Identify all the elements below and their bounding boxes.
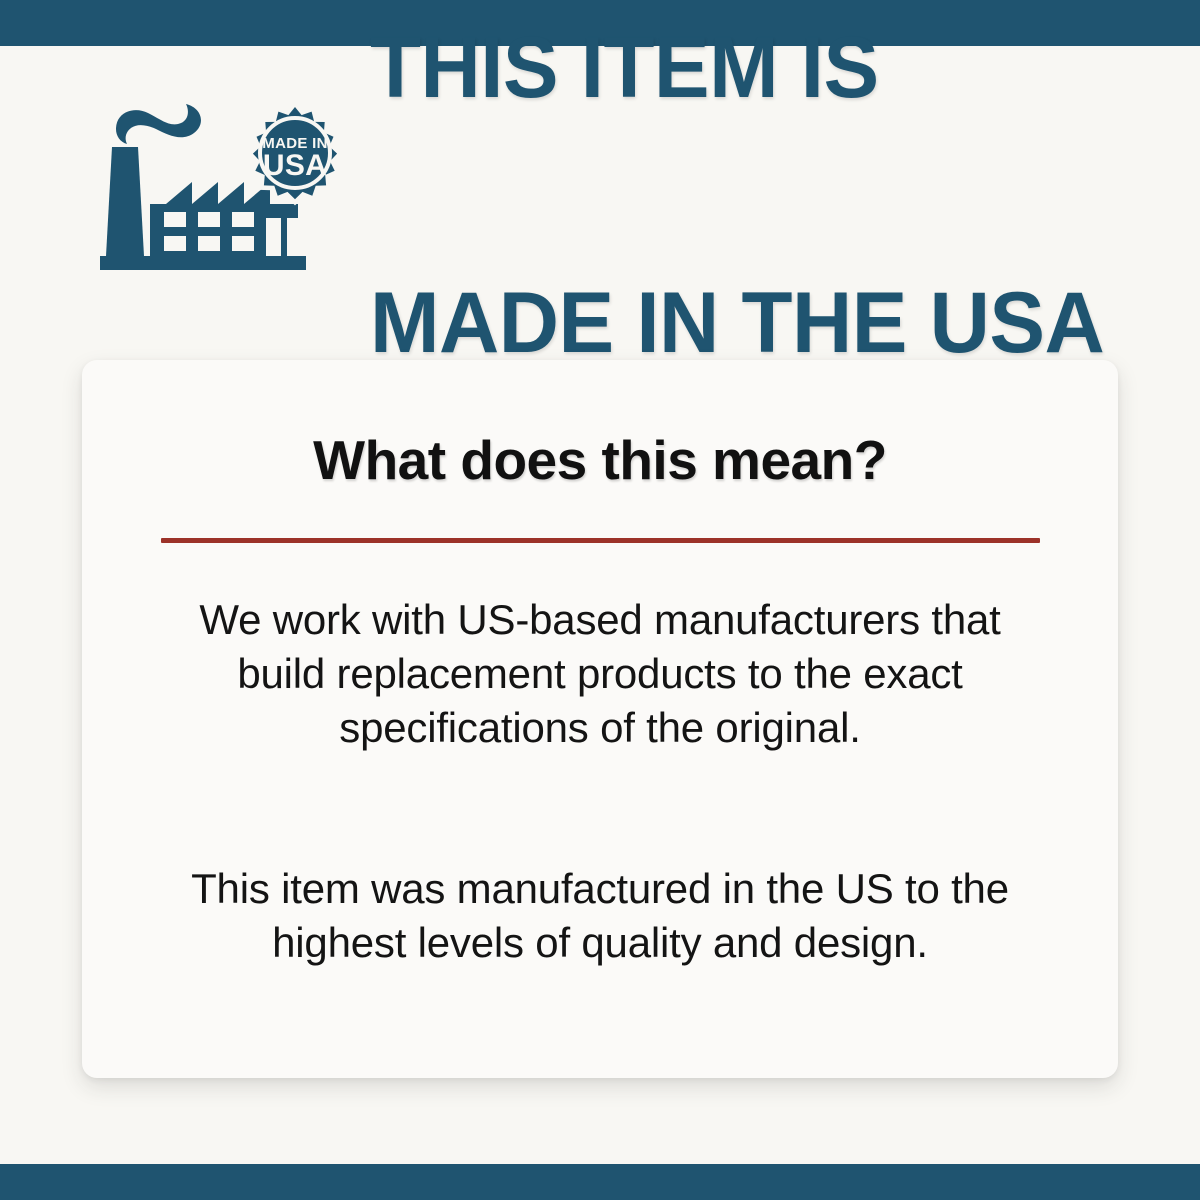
card-paragraph-1: We work with US-based manufacturers that… bbox=[82, 593, 1118, 754]
title-divider-rule bbox=[161, 538, 1040, 543]
smoke-plume-icon bbox=[116, 104, 201, 144]
card-paragraph-2: This item was manufactured in the US to … bbox=[82, 862, 1118, 970]
made-in-usa-badge-icon: MADE IN USA bbox=[248, 102, 342, 205]
bottom-accent-bar bbox=[0, 1164, 1200, 1200]
card-body: We work with US-based manufacturers that… bbox=[82, 593, 1118, 970]
headline-line-1: THIS ITEM IS bbox=[370, 26, 1104, 111]
card-title: What does this mean? bbox=[82, 428, 1118, 492]
smokestack-shape bbox=[106, 147, 144, 256]
factory-base-shape bbox=[100, 256, 306, 270]
page-root: MADE IN USA THIS ITEM IS MADE IN THE USA… bbox=[0, 0, 1200, 1200]
info-card: What does this mean? We work with US-bas… bbox=[82, 360, 1118, 1078]
headline-line-2: MADE IN THE USA bbox=[370, 281, 1104, 366]
badge-line2: USA bbox=[263, 149, 327, 182]
made-in-usa-logo: MADE IN USA bbox=[98, 100, 346, 296]
header-banner: MADE IN USA THIS ITEM IS MADE IN THE USA bbox=[0, 46, 1200, 346]
